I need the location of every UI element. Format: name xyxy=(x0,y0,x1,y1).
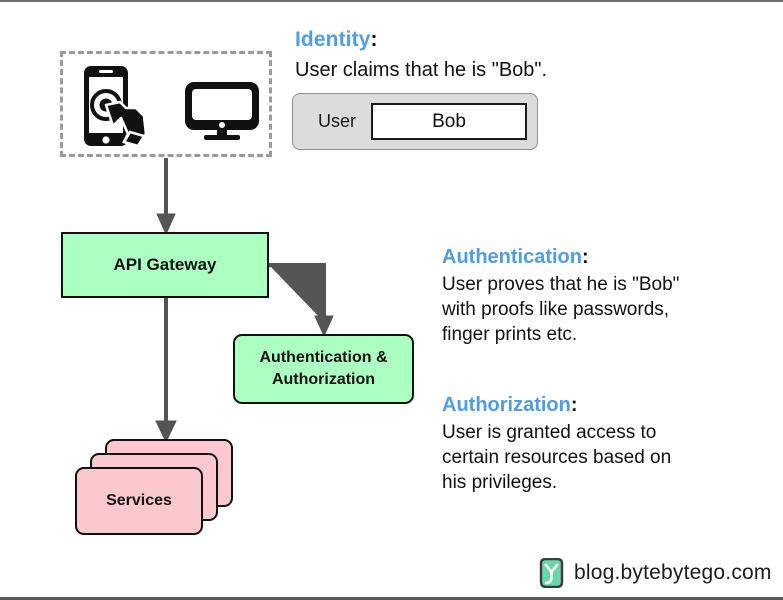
connector-gateway-to-auth xyxy=(269,265,333,336)
user-name-input[interactable]: Bob xyxy=(371,103,527,140)
connector-devices-to-gateway xyxy=(157,158,175,234)
auth-node-label-line2: Authorization xyxy=(272,369,375,391)
authorization-body-line3: his privileges. xyxy=(442,472,557,493)
diagram-canvas: Identity: User claims that he is "Bob". … xyxy=(0,0,783,600)
authentication-heading: Authentication: xyxy=(442,246,772,269)
bytebytego-logo-icon xyxy=(538,558,565,588)
authentication-body-line1: User proves that he is "Bob" xyxy=(442,274,679,295)
identity-colon: : xyxy=(370,28,377,51)
services-label: Services xyxy=(106,492,172,510)
api-gateway-label: API Gateway xyxy=(114,255,217,275)
identity-sentence: User claims that he is "Bob". xyxy=(295,59,547,82)
authorization-colon: : xyxy=(571,394,578,416)
authentication-colon: : xyxy=(582,246,589,268)
auth-node-label-line1: Authentication & xyxy=(260,347,388,369)
authorization-body: User is granted access to certain resour… xyxy=(442,420,772,495)
footer-brand[interactable]: blog.bytebytego.com xyxy=(538,558,772,588)
authentication-info-block: Authentication: User proves that he is "… xyxy=(442,246,772,347)
desktop-monitor-icon xyxy=(182,80,262,142)
authorization-keyword: Authorization xyxy=(442,394,571,416)
smartphone-touch-icon xyxy=(80,64,156,152)
service-card-front[interactable]: Services xyxy=(75,467,203,535)
authentication-keyword: Authentication xyxy=(442,246,582,268)
authentication-body-line2: with proofs like passwords, xyxy=(442,299,669,320)
authorization-body-line1: User is granted access to xyxy=(442,422,656,443)
user-identity-form: User Bob xyxy=(292,93,538,150)
identity-keyword: Identity xyxy=(295,28,370,51)
authorization-heading: Authorization: xyxy=(442,394,772,417)
brand-url-text: blog.bytebytego.com xyxy=(574,561,772,585)
connector-gateway-to-services xyxy=(156,298,176,442)
authentication-body-line3: finger prints etc. xyxy=(442,324,577,345)
authorization-info-block: Authorization: User is granted access to… xyxy=(442,394,772,495)
user-field-label: User xyxy=(303,111,371,132)
authorization-body-line2: certain resources based on xyxy=(442,447,671,468)
node-services-stack[interactable]: Services xyxy=(75,439,245,535)
node-api-gateway[interactable]: API Gateway xyxy=(61,232,269,298)
node-authentication-authorization[interactable]: Authentication & Authorization xyxy=(233,334,414,404)
identity-heading: Identity: xyxy=(295,28,378,52)
authentication-body: User proves that he is "Bob" with proofs… xyxy=(442,272,772,347)
